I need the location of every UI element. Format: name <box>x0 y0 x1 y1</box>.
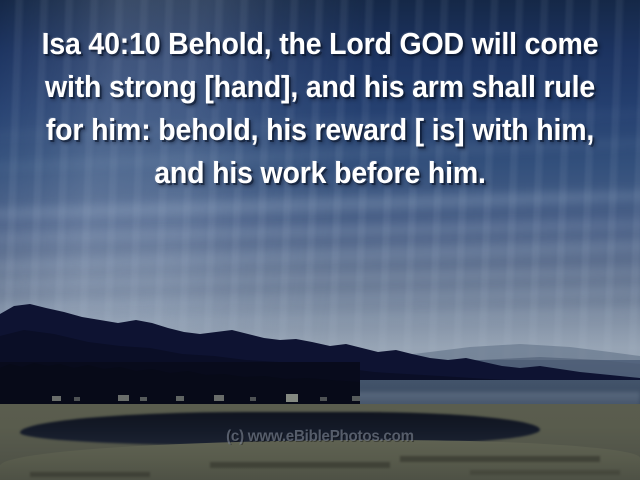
seaweed-line <box>210 462 390 468</box>
scripture-photo-canvas: Isa 40:10 Behold, the Lord GOD will come… <box>0 0 640 480</box>
verse-text: Isa 40:10 Behold, the Lord GOD will come… <box>40 22 599 194</box>
seaweed-line <box>470 470 620 475</box>
seaweed-line <box>30 472 150 477</box>
seaweed-line <box>400 456 600 462</box>
